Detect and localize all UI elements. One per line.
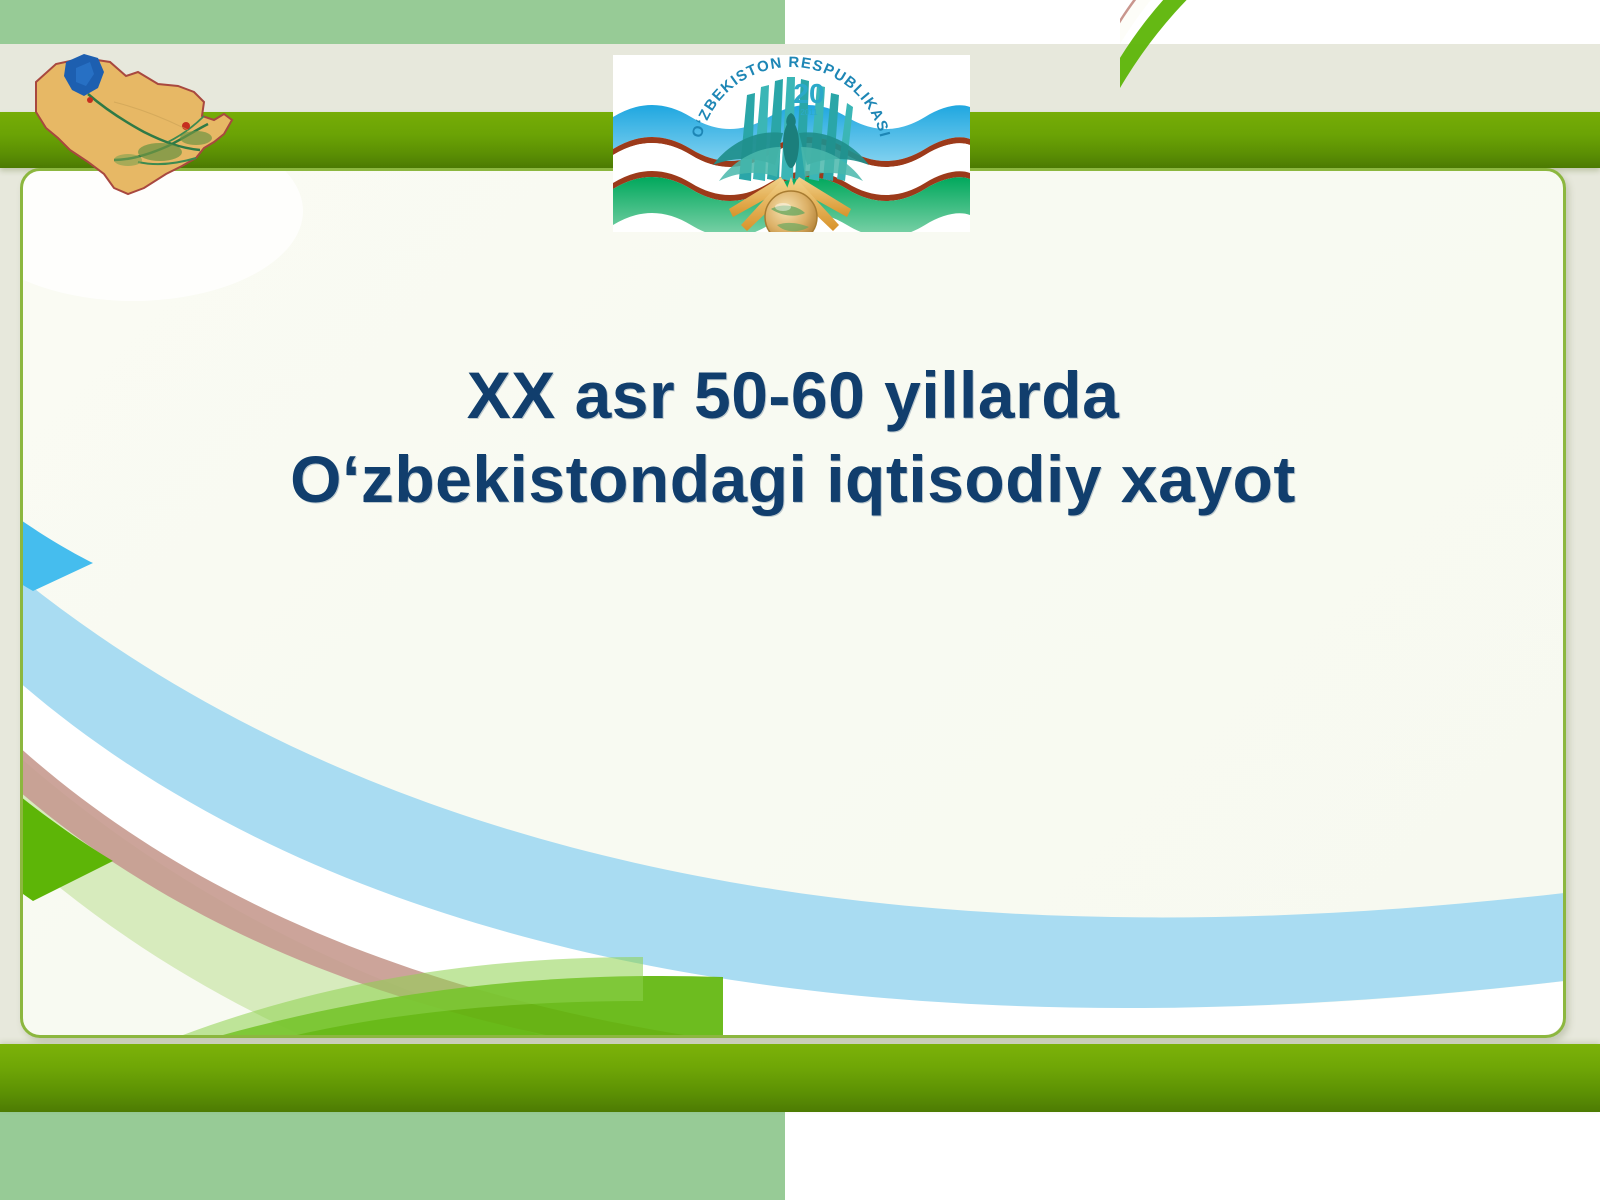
bottom-left-green-block (0, 1112, 785, 1200)
uzbekistan-map-icon (18, 42, 258, 227)
bottom-green-bar (0, 1044, 1600, 1112)
panel-ribbon-decoration (23, 171, 1563, 1035)
emblem-anniversary-number: 20 (793, 78, 824, 109)
slide-root: XX asr 50-60 yillarda Oʻzbekistondagi iq… (0, 0, 1600, 1200)
map-svg (18, 42, 258, 227)
title-line-2: Oʻzbekistondagi iqtisodiy xayot (23, 437, 1563, 521)
uzbekistan-state-emblem-card: O‘ZBEKISTON RESPUBLIKASI 20 2011 (613, 55, 970, 232)
title-line-1: XX asr 50-60 yillarda (23, 353, 1563, 437)
slide-title: XX asr 50-60 yillarda Oʻzbekistondagi iq… (23, 353, 1563, 522)
emblem-svg: O‘ZBEKISTON RESPUBLIKASI 20 2011 (613, 55, 970, 232)
top-left-green-block (0, 0, 785, 44)
emblem-anniversary-year: 2011 (800, 108, 818, 117)
content-panel: XX asr 50-60 yillarda Oʻzbekistondagi iq… (20, 168, 1566, 1038)
